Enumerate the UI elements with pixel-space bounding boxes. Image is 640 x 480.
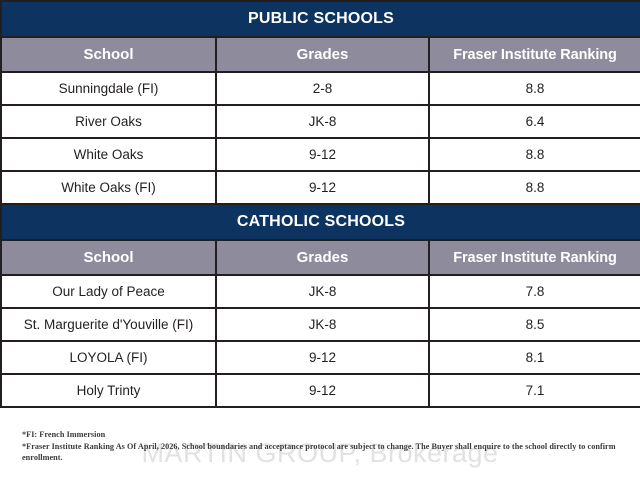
cell-grades: JK-8 <box>216 308 429 341</box>
cell-ranking: 8.1 <box>429 341 640 374</box>
section-header-catholic: CATHOLIC SCHOOLS <box>1 204 640 240</box>
column-header-ranking: Fraser Institute Ranking <box>429 240 640 275</box>
table-row: St. Marguerite d'Youville (FI) JK-8 8.5 <box>1 308 640 341</box>
cell-ranking: 7.8 <box>429 275 640 308</box>
school-rankings-table: PUBLIC SCHOOLS School Grades Fraser Inst… <box>0 0 640 408</box>
footnotes: *FI: French Immersion *Fraser Institute … <box>22 429 622 463</box>
cell-school: White Oaks (FI) <box>1 171 216 204</box>
cell-school: White Oaks <box>1 138 216 171</box>
cell-grades: JK-8 <box>216 275 429 308</box>
cell-ranking: 7.1 <box>429 374 640 407</box>
cell-grades: 9-12 <box>216 374 429 407</box>
cell-ranking: 8.8 <box>429 138 640 171</box>
cell-grades: JK-8 <box>216 105 429 138</box>
column-header-row-public: School Grades Fraser Institute Ranking <box>1 37 640 72</box>
cell-grades: 9-12 <box>216 171 429 204</box>
cell-school: Our Lady of Peace <box>1 275 216 308</box>
section-title-public: PUBLIC SCHOOLS <box>1 1 640 37</box>
column-header-grades: Grades <box>216 240 429 275</box>
cell-school: Holy Trinty <box>1 374 216 407</box>
footnote-disclaimer: *Fraser Institute Ranking As Of April, 2… <box>22 441 622 464</box>
table-row: LOYOLA (FI) 9-12 8.1 <box>1 341 640 374</box>
cell-grades: 9-12 <box>216 341 429 374</box>
table-row: Sunningdale (FI) 2-8 8.8 <box>1 72 640 105</box>
cell-ranking: 8.8 <box>429 171 640 204</box>
footnote-fi: *FI: French Immersion <box>22 429 622 440</box>
school-rankings-sheet: MARTIN GROUP, Brokerage PUBLIC SCHOOLS S… <box>0 0 640 480</box>
table-row: Holy Trinty 9-12 7.1 <box>1 374 640 407</box>
column-header-school: School <box>1 37 216 72</box>
cell-school: River Oaks <box>1 105 216 138</box>
cell-school: St. Marguerite d'Youville (FI) <box>1 308 216 341</box>
section-title-catholic: CATHOLIC SCHOOLS <box>1 204 640 240</box>
cell-grades: 2-8 <box>216 72 429 105</box>
column-header-row-catholic: School Grades Fraser Institute Ranking <box>1 240 640 275</box>
column-header-ranking: Fraser Institute Ranking <box>429 37 640 72</box>
column-header-school: School <box>1 240 216 275</box>
table-row: River Oaks JK-8 6.4 <box>1 105 640 138</box>
cell-ranking: 8.5 <box>429 308 640 341</box>
cell-ranking: 8.8 <box>429 72 640 105</box>
cell-school: LOYOLA (FI) <box>1 341 216 374</box>
table-row: Our Lady of Peace JK-8 7.8 <box>1 275 640 308</box>
cell-school: Sunningdale (FI) <box>1 72 216 105</box>
table-row: White Oaks (FI) 9-12 8.8 <box>1 171 640 204</box>
table-row: White Oaks 9-12 8.8 <box>1 138 640 171</box>
cell-grades: 9-12 <box>216 138 429 171</box>
cell-ranking: 6.4 <box>429 105 640 138</box>
section-header-public: PUBLIC SCHOOLS <box>1 1 640 37</box>
column-header-grades: Grades <box>216 37 429 72</box>
